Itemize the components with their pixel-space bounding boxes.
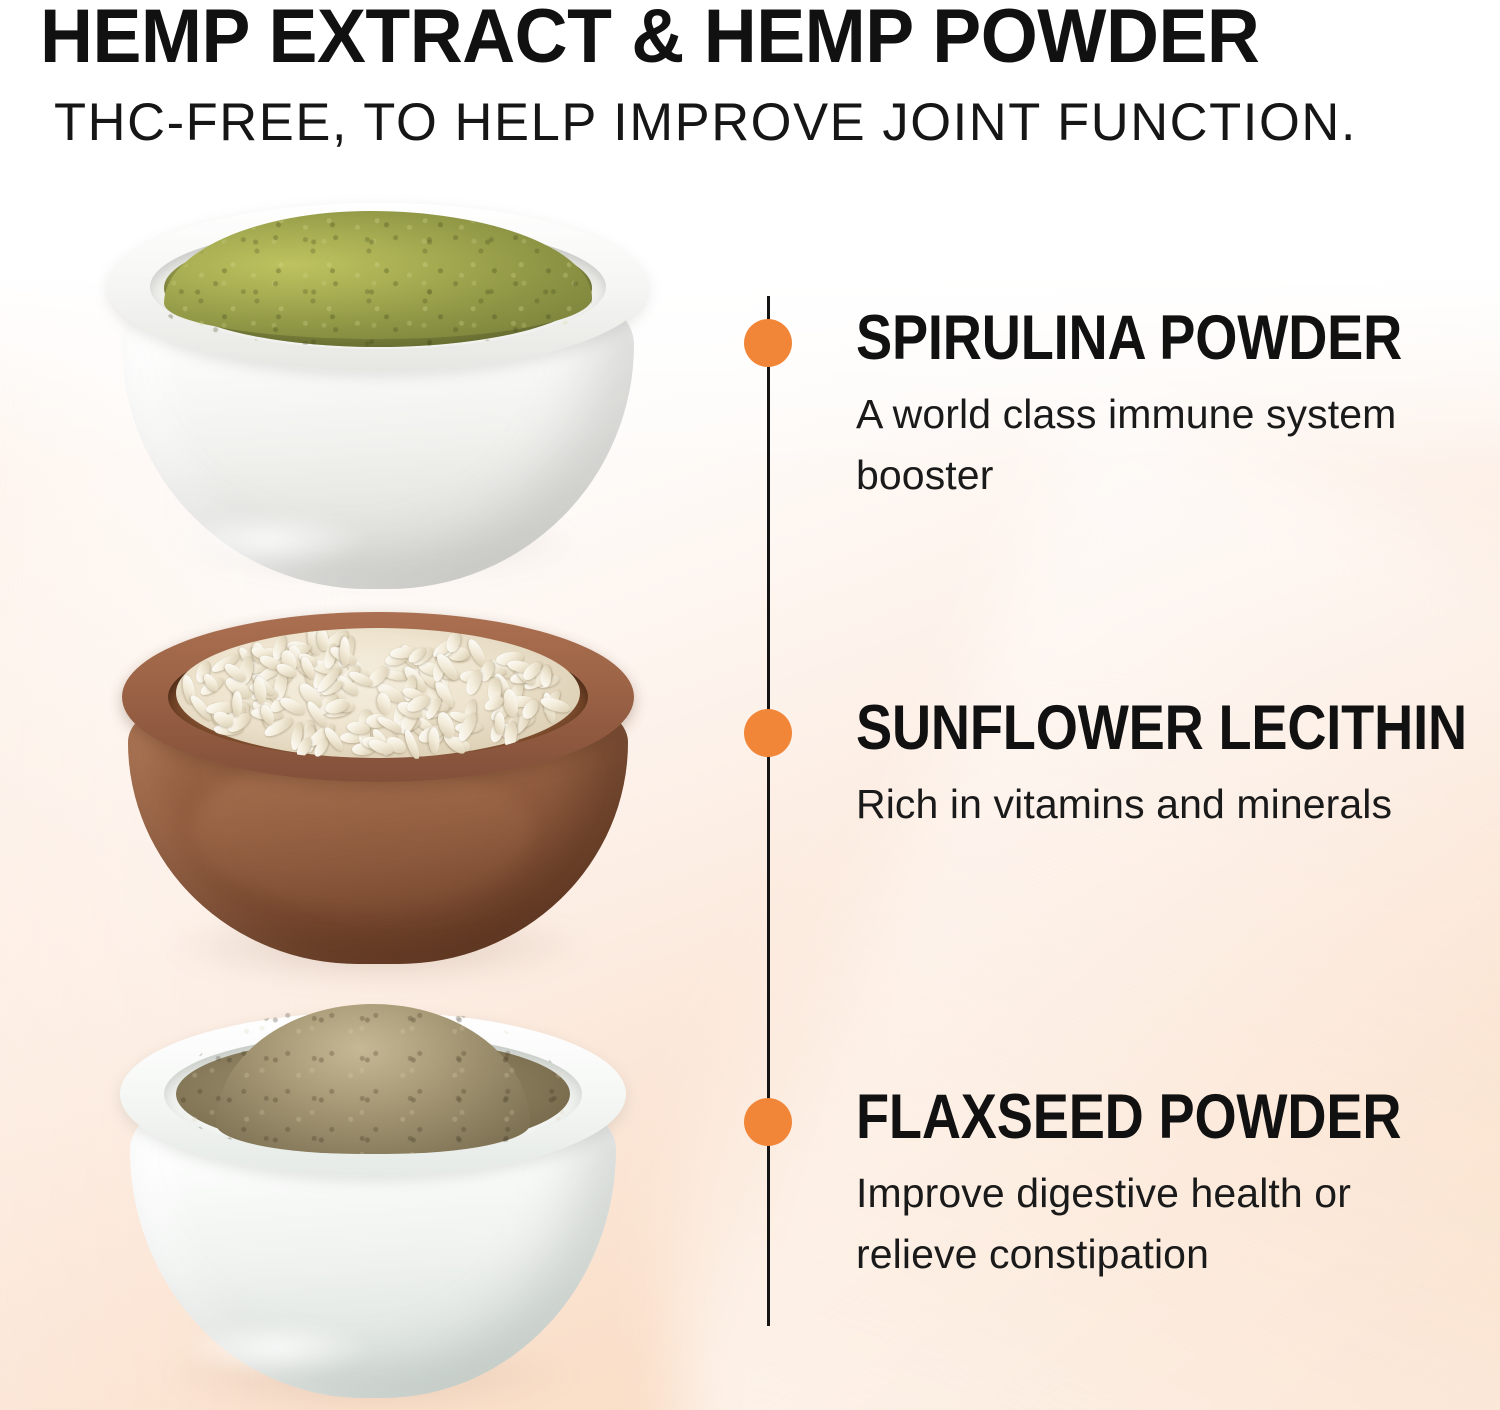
feature-description: Rich in vitamins and minerals — [856, 774, 1416, 835]
timeline-line — [767, 296, 770, 1326]
ingredient-images — [0, 0, 740, 1410]
feature-item-sunflower-lecithin: SUNFLOWER LECITHIN Rich in vitamins and … — [856, 696, 1456, 835]
feature-description: A world class immune system booster — [856, 384, 1416, 506]
feature-title: FLAXSEED POWDER — [856, 1085, 1372, 1149]
feature-description: Improve digestive health or relieve cons… — [856, 1163, 1416, 1285]
page-subtitle: THC-FREE, TO HELP IMPROVE JOINT FUNCTION… — [54, 92, 1357, 154]
page-title: HEMP EXTRACT & HEMP POWDER — [40, 0, 1420, 78]
feature-item-flaxseed: FLAXSEED POWDER Improve digestive health… — [856, 1085, 1456, 1285]
sunflower-seed — [428, 727, 440, 754]
feature-title: SUNFLOWER LECITHIN — [856, 696, 1372, 760]
orange-dot-icon-flaxseed — [744, 1098, 792, 1146]
feature-title: SPIRULINA POWDER — [856, 306, 1372, 370]
flaxseed-powder-bowl-image — [120, 1012, 626, 1410]
orange-dot-icon-spirulina — [744, 319, 792, 367]
sunflower-seed — [540, 666, 551, 688]
spirulina-powder-bowl-image — [108, 203, 648, 599]
sunflower-seeds-bowl-image — [122, 612, 634, 988]
sunflower-seed-layer — [176, 628, 580, 760]
hemp-product-infographic: HEMP EXTRACT & HEMP POWDER THC-FREE, TO … — [0, 0, 1500, 1410]
orange-dot-icon-sunflower — [744, 709, 792, 757]
feature-item-spirulina: SPIRULINA POWDER A world class immune sy… — [856, 306, 1456, 506]
